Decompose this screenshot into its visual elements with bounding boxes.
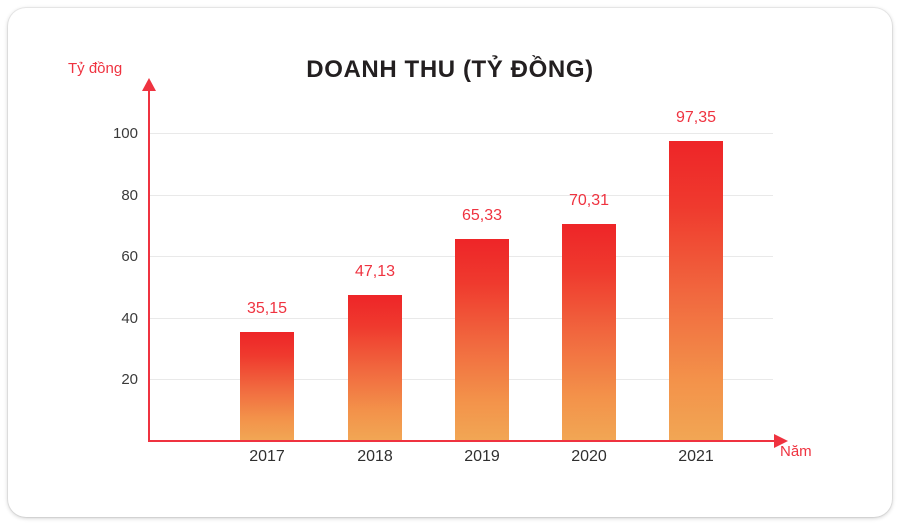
- x-axis-arrow-icon: [774, 434, 788, 448]
- xtick-label-2020: 2020: [539, 448, 639, 466]
- bar-2021[interactable]: [669, 141, 723, 440]
- ytick-label-40: 40: [92, 310, 138, 327]
- y-axis-line: [148, 88, 150, 442]
- gridline-100: [150, 133, 773, 134]
- xtick-label-2017: 2017: [217, 448, 317, 466]
- bar-value-2020: 70,31: [539, 192, 639, 210]
- ytick-label-100: 100: [92, 125, 138, 142]
- xtick-label-2018: 2018: [325, 448, 425, 466]
- ytick-label-20: 20: [92, 371, 138, 388]
- bar-value-2017: 35,15: [217, 300, 317, 318]
- y-axis-title: Tỷ đồng: [68, 60, 122, 77]
- chart-card: DOANH THU (TỶ ĐỒNG) Tỷ đồng Năm 20 40 60…: [8, 8, 892, 517]
- bar-chart: DOANH THU (TỶ ĐỒNG) Tỷ đồng Năm 20 40 60…: [8, 8, 892, 517]
- bar-2020[interactable]: [562, 224, 616, 440]
- bar-2018[interactable]: [348, 295, 402, 440]
- y-axis-arrow-icon: [142, 78, 156, 91]
- bar-value-2018: 47,13: [325, 263, 425, 281]
- bar-value-2019: 65,33: [432, 207, 532, 225]
- chart-title: DOANH THU (TỶ ĐỒNG): [8, 56, 892, 84]
- x-axis-line: [148, 440, 778, 442]
- ytick-label-80: 80: [92, 187, 138, 204]
- xtick-label-2019: 2019: [432, 448, 532, 466]
- xtick-label-2021: 2021: [646, 448, 746, 466]
- ytick-label-60: 60: [92, 248, 138, 265]
- bar-2019[interactable]: [455, 239, 509, 440]
- bar-value-2021: 97,35: [646, 109, 746, 127]
- bar-2017[interactable]: [240, 332, 294, 440]
